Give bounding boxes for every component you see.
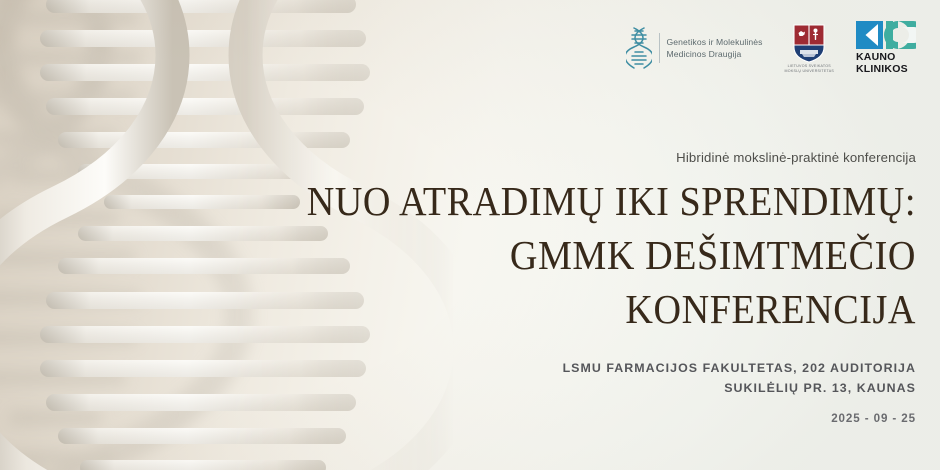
- logo-kk-text: KAUNO KLINIKOS: [856, 52, 908, 76]
- logo-divider: [659, 33, 660, 63]
- logo-gmmk-text: Genetikos ir Molekulinės Medicinos Draug…: [667, 36, 763, 61]
- shield-crest-icon: [792, 23, 826, 63]
- title-line-1: NUO ATRADIMŲ IKI SPRENDIMŲ:: [302, 174, 916, 228]
- logo-gmmk-line1: Genetikos ir Molekulinės: [667, 36, 763, 48]
- dna-helix-icon: [626, 26, 652, 70]
- logo-lsmu-line1: LIETUVOS SVEIKATOS: [785, 64, 834, 69]
- poster-content: Hibridinė mokslinė-praktinė konferencija…: [256, 150, 916, 425]
- title-line-2: GMMK DEŠIMTMEČIO: [302, 228, 916, 282]
- logo-lsmu-text: LIETUVOS SVEIKATOS MOKSLŲ UNIVERSITETAS: [785, 64, 834, 74]
- page-title: NUO ATRADIMŲ IKI SPRENDIMŲ: GMMK DEŠIMTM…: [302, 174, 916, 336]
- logo-bar: Genetikos ir Molekulinės Medicinos Draug…: [626, 18, 917, 78]
- venue-line-2: SUKILĖLIŲ PR. 13, KAUNAS: [256, 378, 916, 398]
- logo-gmmk-line2: Medicinos Draugija: [667, 48, 763, 60]
- logo-lsmu-line2: MOKSLŲ UNIVERSITETAS: [785, 69, 834, 74]
- venue-block: LSMU FARMACIJOS FAKULTETAS, 202 AUDITORI…: [256, 358, 916, 398]
- logo-gmmk: Genetikos ir Molekulinės Medicinos Draug…: [626, 26, 763, 70]
- conference-poster: Genetikos ir Molekulinės Medicinos Draug…: [0, 0, 940, 470]
- logo-lsmu: LIETUVOS SVEIKATOS MOKSLŲ UNIVERSITETAS: [785, 23, 834, 74]
- logo-kauno-klinikos: KAUNO KLINIKOS: [856, 21, 916, 76]
- title-line-3: KONFERENCIJA: [302, 282, 916, 336]
- logo-kk-line2: KLINIKOS: [856, 64, 908, 76]
- event-date: 2025 - 09 - 25: [256, 412, 916, 425]
- logo-kk-line1: KAUNO: [856, 52, 908, 64]
- venue-line-1: LSMU FARMACIJOS FAKULTETAS, 202 AUDITORI…: [256, 358, 916, 378]
- event-kicker: Hibridinė mokslinė-praktinė konferencija: [256, 150, 916, 165]
- kk-monogram-icon: [856, 21, 916, 49]
